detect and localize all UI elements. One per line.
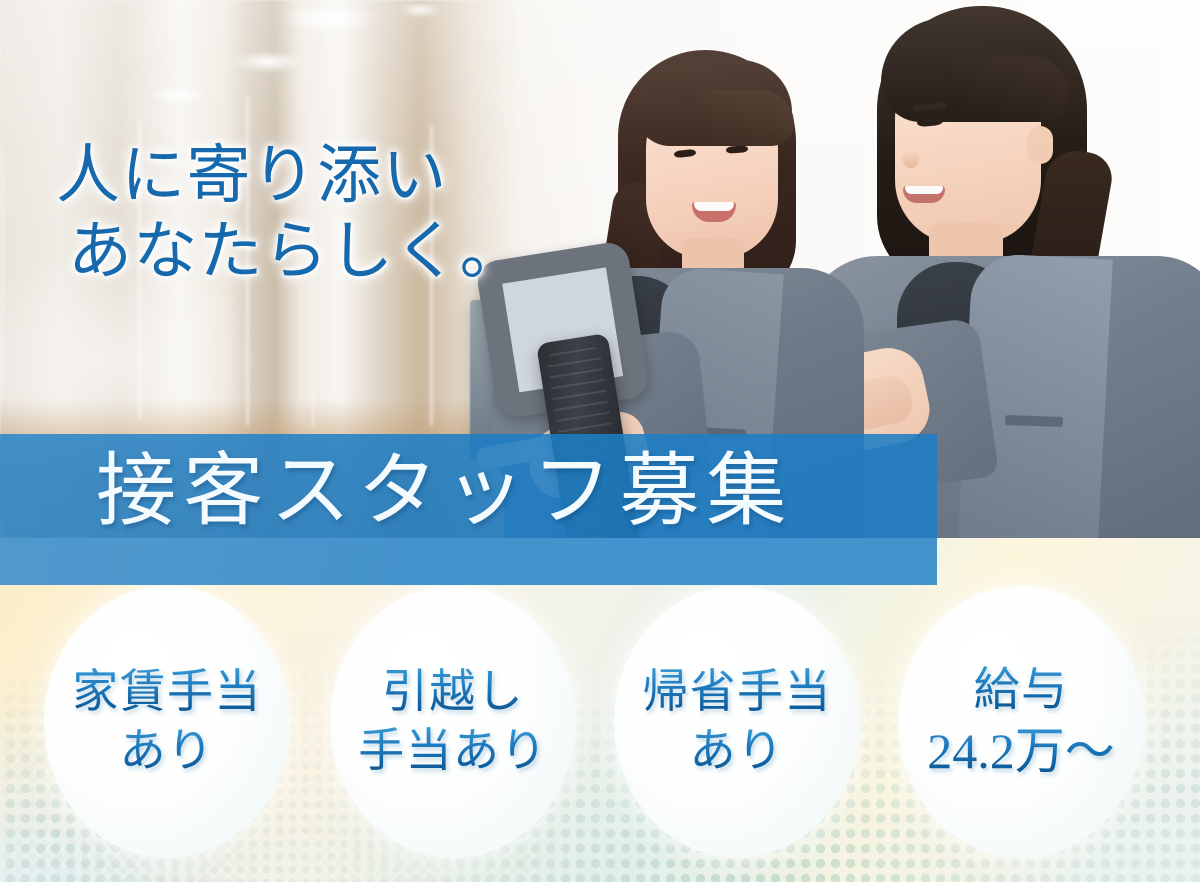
perks-section: 家賃手当 あり 引越し 手当あり 帰省手当 あり 給与 24.2万〜 <box>0 538 1200 882</box>
perk-badge-rent-allowance: 家賃手当 あり <box>44 586 290 858</box>
headline-line-1: 人に寄り添い <box>56 138 525 214</box>
perk-line-2: 手当あり <box>358 722 548 781</box>
perk-line-2: 24.2万〜 <box>927 719 1115 783</box>
banner-title: 接客スタッフ募集 <box>96 448 794 538</box>
perk-line-1: 給与 <box>974 661 1069 720</box>
perk-line-1: 引越し <box>382 663 524 722</box>
perk-line-1: 家賃手当 <box>72 663 262 722</box>
perk-badge-homecoming-allowance: 帰省手当 あり <box>614 586 860 858</box>
jacket-pocket <box>1005 415 1063 427</box>
perk-badge-moving-allowance: 引越し 手当あり <box>330 586 576 858</box>
recruitment-poster: 人に寄り添い あなたらしく。 接客スタッフ募集 家賃手当 あり 引越し 手当あり… <box>0 0 1200 882</box>
headline-line-2: あなたらしく。 <box>68 214 525 290</box>
perk-line-1: 帰省手当 <box>642 663 832 722</box>
headline: 人に寄り添い あなたらしく。 <box>56 138 525 289</box>
perk-badge-list: 家賃手当 あり 引越し 手当あり 帰省手当 あり 給与 24.2万〜 <box>0 538 1200 882</box>
recruitment-banner: 接客スタッフ募集 <box>0 434 937 585</box>
perk-badge-salary: 給与 24.2万〜 <box>898 586 1144 858</box>
perk-line-2: あり <box>690 722 785 781</box>
banner-lower-strip <box>0 538 937 585</box>
bangs <box>636 60 792 146</box>
ear <box>1027 126 1053 164</box>
perk-line-2: あり <box>120 722 215 781</box>
